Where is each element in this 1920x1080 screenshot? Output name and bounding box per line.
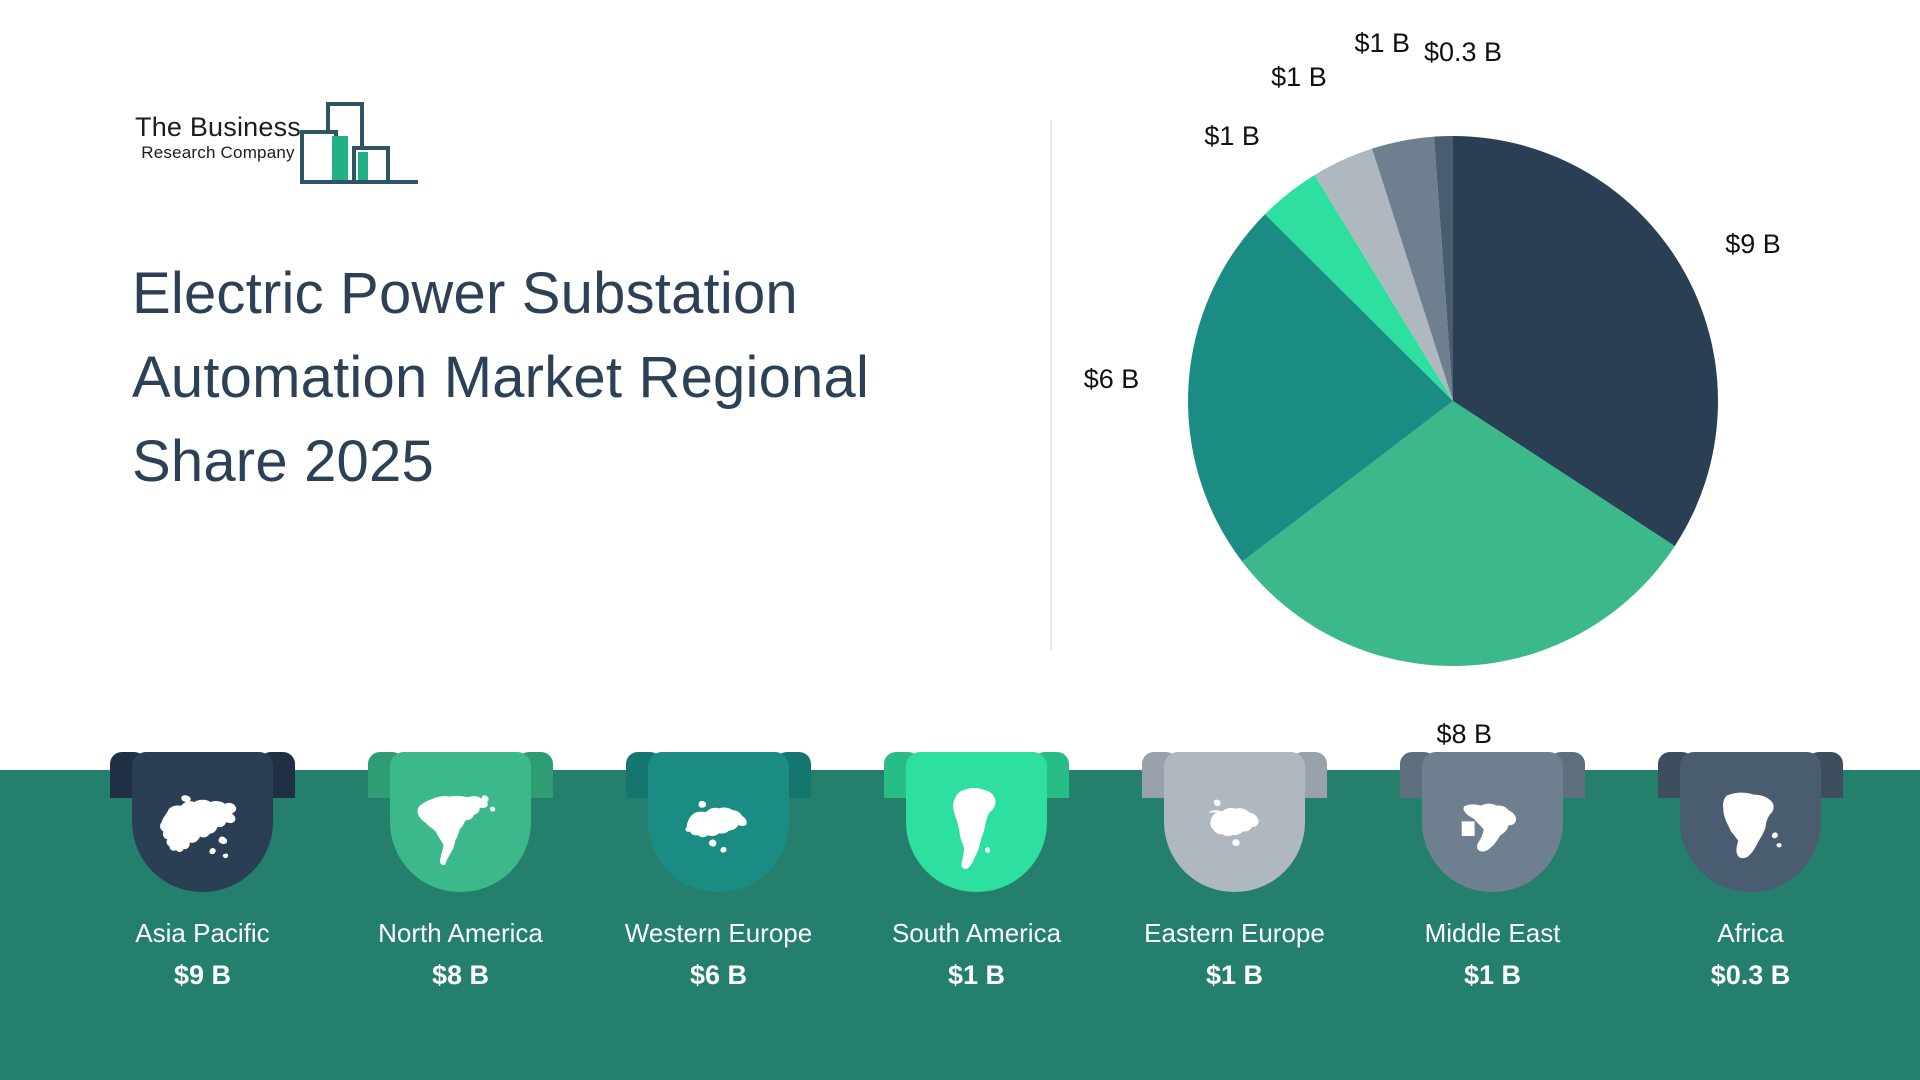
- region-shield: [368, 752, 553, 892]
- pie-label-asia-pacific: $9 B: [1725, 229, 1781, 260]
- region-shield: [1658, 752, 1843, 892]
- region-shield: [626, 752, 811, 892]
- logo-name-line1: The Business: [132, 114, 304, 141]
- region-name-label: Africa: [1638, 918, 1863, 949]
- region-card[interactable]: Africa$0.3 B: [1658, 770, 1843, 1080]
- region-card[interactable]: Eastern Europe$1 B: [1142, 770, 1327, 1080]
- region-value-label: $1 B: [864, 960, 1089, 991]
- regional-share-pie-chart: $9 B$8 B$6 B$1 B$1 B$1 B$0.3 B: [1040, 60, 1900, 720]
- pie-label-western-europe: $6 B: [1084, 364, 1140, 395]
- region-value-label: $0.3 B: [1638, 960, 1863, 991]
- region-shield: [1142, 752, 1327, 892]
- region-card[interactable]: Middle East$1 B: [1400, 770, 1585, 1080]
- region-name-label: Western Europe: [606, 918, 831, 949]
- region-shield: [1400, 752, 1585, 892]
- region-value-label: $6 B: [606, 960, 831, 991]
- region-cards-band: Asia Pacific$9 BNorth America$8 BWestern…: [0, 770, 1920, 1080]
- pie-label-africa: $0.3 B: [1424, 37, 1502, 68]
- logo-wordmark: The Business Research Company: [132, 114, 304, 161]
- pie-svg: [1040, 60, 1900, 720]
- south-america-map-icon: [906, 752, 1047, 892]
- region-card[interactable]: Western Europe$6 B: [626, 770, 811, 1080]
- region-name-label: Asia Pacific: [90, 918, 315, 949]
- region-value-label: $9 B: [90, 960, 315, 991]
- region-value-label: $8 B: [348, 960, 573, 991]
- pie-label-eastern-europe: $1 B: [1271, 62, 1327, 93]
- africa-map-icon: [1680, 752, 1821, 892]
- region-value-label: $1 B: [1380, 960, 1605, 991]
- region-name-label: Middle East: [1380, 918, 1605, 949]
- asia-pacific-map-icon: [132, 752, 273, 892]
- page-title: Electric Power Substation Automation Mar…: [132, 252, 932, 504]
- north-america-map-icon: [390, 752, 531, 892]
- company-logo: The Business Research Company: [132, 100, 422, 188]
- middle-east-map-icon: [1422, 752, 1563, 892]
- logo-name-line2: Research Company: [132, 144, 304, 161]
- region-shield: [110, 752, 295, 892]
- pie-label-south-america: $1 B: [1204, 121, 1260, 152]
- pie-slices: [1188, 136, 1718, 666]
- eastern-europe-map-icon: [1164, 752, 1305, 892]
- region-shield: [884, 752, 1069, 892]
- pie-label-middle-east: $1 B: [1355, 28, 1411, 59]
- pie-label-north-america: $8 B: [1436, 719, 1492, 750]
- region-name-label: North America: [348, 918, 573, 949]
- bar-chart-logo-icon: [292, 100, 422, 193]
- region-name-label: Eastern Europe: [1122, 918, 1347, 949]
- region-card[interactable]: Asia Pacific$9 B: [110, 770, 295, 1080]
- western-europe-map-icon: [648, 752, 789, 892]
- region-card[interactable]: North America$8 B: [368, 770, 553, 1080]
- region-value-label: $1 B: [1122, 960, 1347, 991]
- region-card[interactable]: South America$1 B: [884, 770, 1069, 1080]
- region-name-label: South America: [864, 918, 1089, 949]
